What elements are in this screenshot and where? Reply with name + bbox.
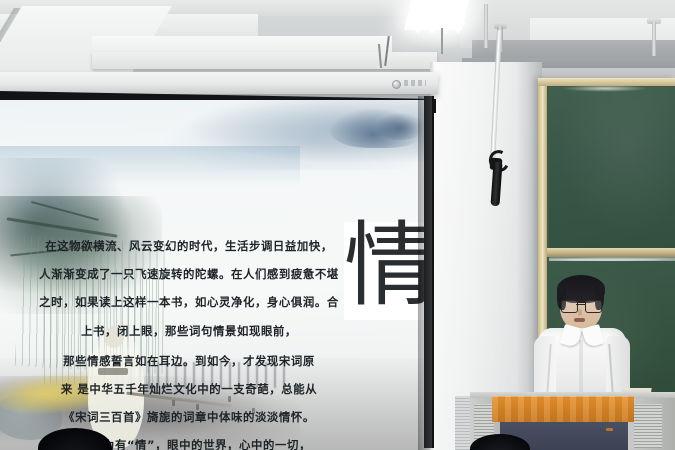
podium-speaker-grill-right [634, 404, 662, 448]
ceiling-rod-right [652, 22, 656, 56]
slide-line: 那些情感誓言如在耳边。到如今，才发现宋词原 [16, 353, 362, 369]
eyebrow-left [562, 296, 575, 298]
slide-text-block: 在这物欲横流、风云变幻的时代，生活步调日益加快， 人渐渐变成了一只飞速旋转的陀螺… [16, 238, 362, 450]
shirt-placket [579, 340, 583, 398]
slide-line: 《宋词三百首》旖旎的词章中体味的淡淡情怀。 [16, 409, 362, 425]
lens-left [561, 300, 578, 313]
chalkboard-chalk-smudge-top [560, 86, 650, 92]
ceiling-rod-left [484, 4, 488, 48]
slide-paragraph-1: 在这物欲横流、风云变幻的时代，生活步调日益加快， 人渐渐变成了一只飞速旋转的陀螺… [16, 238, 362, 339]
lens-right [585, 300, 602, 313]
nose [578, 309, 582, 316]
light-diffuser-teeth [410, 22, 464, 34]
sleeve-left [534, 336, 556, 398]
screen-control-button[interactable] [392, 80, 401, 89]
student-presenter [534, 278, 630, 398]
slide-line: 在这物欲横流、风云变幻的时代，生活步调日益加快， [16, 238, 362, 254]
glasses-bridge [576, 304, 585, 305]
slide-line: 人渐渐变成了一只飞速旋转的陀螺。在人们感到疲惫不堪 [16, 266, 362, 282]
chalkboard-frame-top [538, 78, 675, 86]
light-hanger [441, 28, 443, 54]
mouth [574, 318, 585, 322]
eyebrow-right [586, 296, 599, 298]
podium-knob[interactable] [606, 428, 613, 431]
podium-wood-grain [492, 396, 634, 422]
screen-housing-label [404, 80, 426, 86]
screen-wall-seam [418, 96, 432, 450]
projection-screen[interactable]: 情 在这物欲横流、风云变幻的时代，生活步调日益加快， 人渐渐变成了一只飞速旋转的… [0, 100, 426, 450]
slide-line: 来 是中华五千年灿烂文化中的一支奇葩，总能从 [16, 381, 362, 397]
classroom-photo-scene: 情 在这物欲横流、风云变幻的时代，生活步调日益加快， 人渐渐变成了一只飞速旋转的… [0, 0, 675, 450]
screen-housing [0, 72, 438, 94]
chalk-rail [546, 248, 675, 257]
slide-line: 之时，如果读上这样一本书，如心灵净化，身心俱润。合 [16, 294, 362, 310]
slide-line: 上书，闭上眼，那些词句情景如现眼前， [16, 323, 362, 339]
chalkboard-panel-top[interactable] [549, 87, 675, 248]
